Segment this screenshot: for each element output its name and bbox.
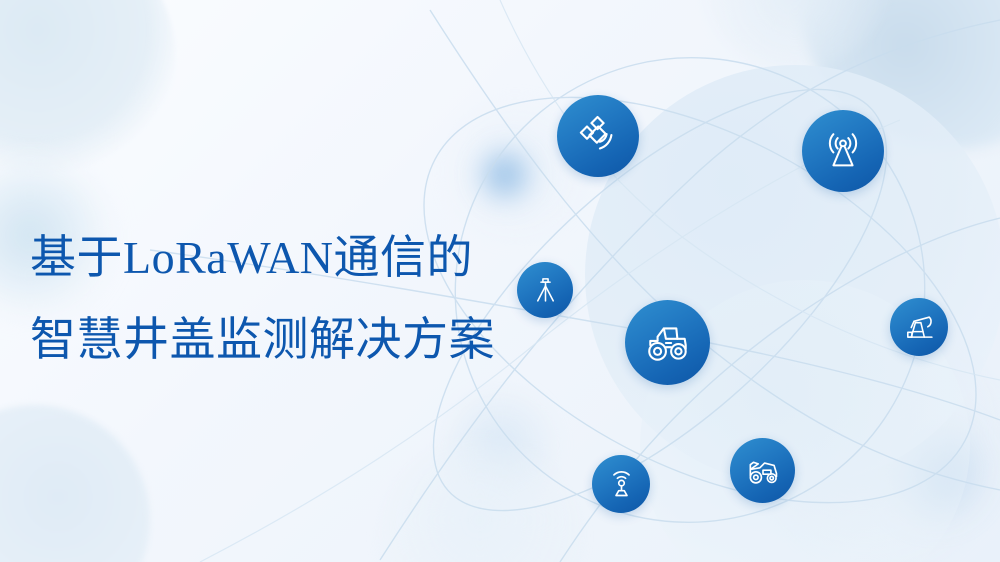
node-tractor[interactable] [625, 300, 710, 385]
decorative-blob-right-lower [760, 330, 1000, 562]
title-line-1: 基于LoRaWAN通信的 [30, 228, 590, 288]
decorative-blob-top-center [700, 0, 890, 70]
decorative-dot-bottom-right [880, 415, 990, 525]
node-antenna-tower[interactable] [802, 110, 884, 192]
decorative-blob-top-left [0, 0, 175, 180]
oil-pumpjack-icon [903, 311, 936, 344]
decorative-dot-center-upper [470, 140, 540, 210]
antenna-tower-icon [820, 128, 866, 174]
decorative-blob-bottom-center [380, 440, 580, 562]
node-harvester[interactable] [730, 438, 795, 503]
title-line-2: 智慧井盖监测解决方案 [30, 310, 590, 370]
node-sensor[interactable] [592, 455, 650, 513]
title-slide: 基于LoRaWAN通信的 智慧井盖监测解决方案 [0, 0, 1000, 562]
satellite-icon [575, 113, 621, 159]
harvester-icon [744, 452, 782, 490]
decorative-sphere-main [585, 65, 1000, 485]
tractor-icon [643, 318, 693, 368]
page-title: 基于LoRaWAN通信的 智慧井盖监测解决方案 [30, 228, 590, 370]
decorative-blob-center-lower [440, 385, 560, 505]
node-oil-pumpjack[interactable] [890, 298, 948, 356]
node-satellite[interactable] [557, 95, 639, 177]
sensor-node-icon [605, 468, 638, 501]
decorative-blob-bottom-left [0, 405, 150, 562]
